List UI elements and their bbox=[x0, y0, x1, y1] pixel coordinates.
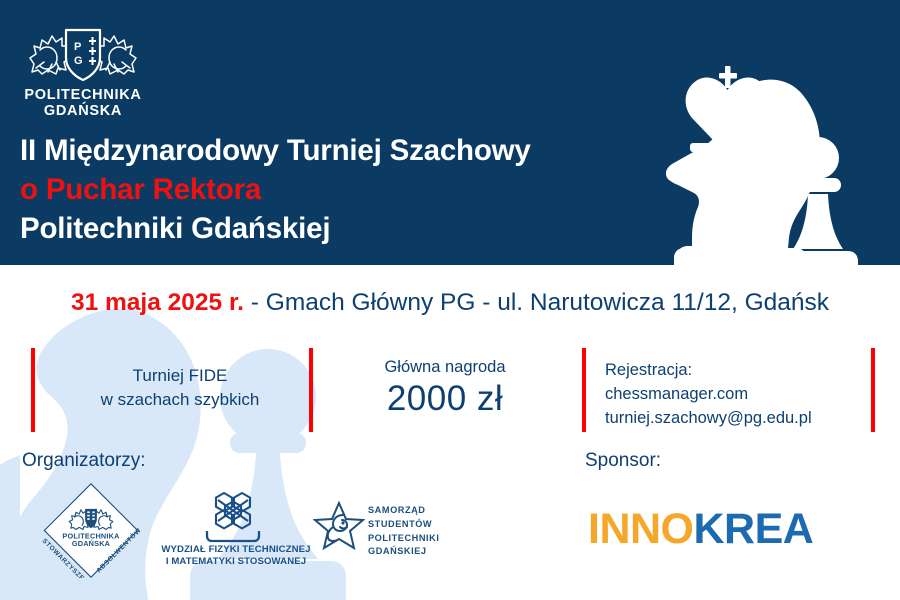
info-column-prize: Główna nagroda 2000 zł bbox=[320, 348, 570, 420]
header-band: P G POLITECHNIKA GDAŃSKA II Międzynaro bbox=[0, 0, 900, 265]
title-line-3: Politechniki Gdańskiej bbox=[20, 209, 660, 248]
sponsor-label: Sponsor: bbox=[585, 450, 661, 472]
divider-bar-3 bbox=[582, 348, 586, 432]
wftims-label: WYDZIAŁ FIZYKI TECHNICZNEJ I MATEMATYKI … bbox=[161, 544, 311, 568]
event-date: 31 maja 2025 r. bbox=[71, 289, 244, 316]
samorzad-studentow-star-icon bbox=[313, 501, 365, 551]
format-line-1: Turniej FIDE bbox=[60, 364, 300, 388]
samorzad-label: SAMORZĄD STUDENTÓW POLITECHNIKI GDAŃSKIE… bbox=[368, 504, 439, 559]
info-column-format: Turniej FIDE w szachach szybkich bbox=[60, 348, 300, 412]
wftims-label-line2: I MATEMATYKI STOSOWANEJ bbox=[161, 556, 311, 568]
info-columns: Turniej FIDE w szachach szybkich Główna … bbox=[0, 348, 900, 432]
samorzad-label-line3: POLITECHNIKI bbox=[368, 532, 439, 546]
registration-label: Rejestracja: bbox=[605, 358, 875, 382]
samorzad-label-line2: STUDENTÓW bbox=[368, 518, 439, 532]
pg-logo: P G POLITECHNIKA GDAŃSKA bbox=[18, 24, 148, 119]
registration-email[interactable]: turniej.szachowy@pg.edu.pl bbox=[605, 406, 875, 430]
prize-label: Główna nagroda bbox=[320, 357, 570, 378]
event-venue: - Gmach Główny PG - ul. Narutowicza 11/1… bbox=[244, 289, 829, 316]
registration-website[interactable]: chessmanager.com bbox=[605, 382, 875, 406]
stowarzyszenie-absolwentow-logo: POLITECHNIKA GDAŃSKA STOWARZYSZENIE ABSO… bbox=[26, 483, 156, 578]
organizer-logos: POLITECHNIKA GDAŃSKA STOWARZYSZENIE ABSO… bbox=[18, 483, 468, 583]
innokrea-sponsor-logo: INNOKREA bbox=[588, 505, 813, 554]
pg-crest-icon: P G bbox=[24, 24, 142, 84]
title-line-2: o Puchar Rektora bbox=[20, 170, 660, 209]
samorzad-label-line1: SAMORZĄD bbox=[368, 504, 439, 518]
pg-logo-wordmark-line2: GDAŃSKA bbox=[18, 103, 148, 119]
divider-bar-2 bbox=[309, 348, 313, 432]
sa-center-line2: GDAŃSKA bbox=[72, 539, 111, 548]
date-venue-line: 31 maja 2025 r. - Gmach Główny PG - ul. … bbox=[0, 288, 900, 317]
wftims-logo-icon bbox=[193, 489, 281, 547]
organizers-label: Organizatorzy: bbox=[22, 450, 146, 472]
page-title: II Międzynarodowy Turniej Szachowy o Puc… bbox=[20, 131, 660, 249]
samorzad-label-line4: GDAŃSKIEJ bbox=[368, 545, 439, 559]
innokrea-part1: INNO bbox=[588, 505, 694, 553]
innokrea-part2: KREA bbox=[694, 505, 814, 553]
prize-amount: 2000 zł bbox=[320, 378, 570, 419]
title-line-1: II Międzynarodowy Turniej Szachowy bbox=[20, 131, 660, 170]
svg-text:P: P bbox=[74, 41, 81, 53]
svg-text:G: G bbox=[74, 55, 83, 67]
pg-logo-wordmark-line1: POLITECHNIKA bbox=[18, 87, 148, 103]
tournament-poster: P G POLITECHNIKA GDAŃSKA II Międzynaro bbox=[0, 0, 900, 600]
info-column-registration: Rejestracja: chessmanager.com turniej.sz… bbox=[605, 348, 875, 430]
format-line-2: w szachach szybkich bbox=[60, 388, 300, 412]
wftims-label-line1: WYDZIAŁ FIZYKI TECHNICZNEJ bbox=[161, 544, 311, 556]
divider-bar-1 bbox=[31, 348, 35, 432]
